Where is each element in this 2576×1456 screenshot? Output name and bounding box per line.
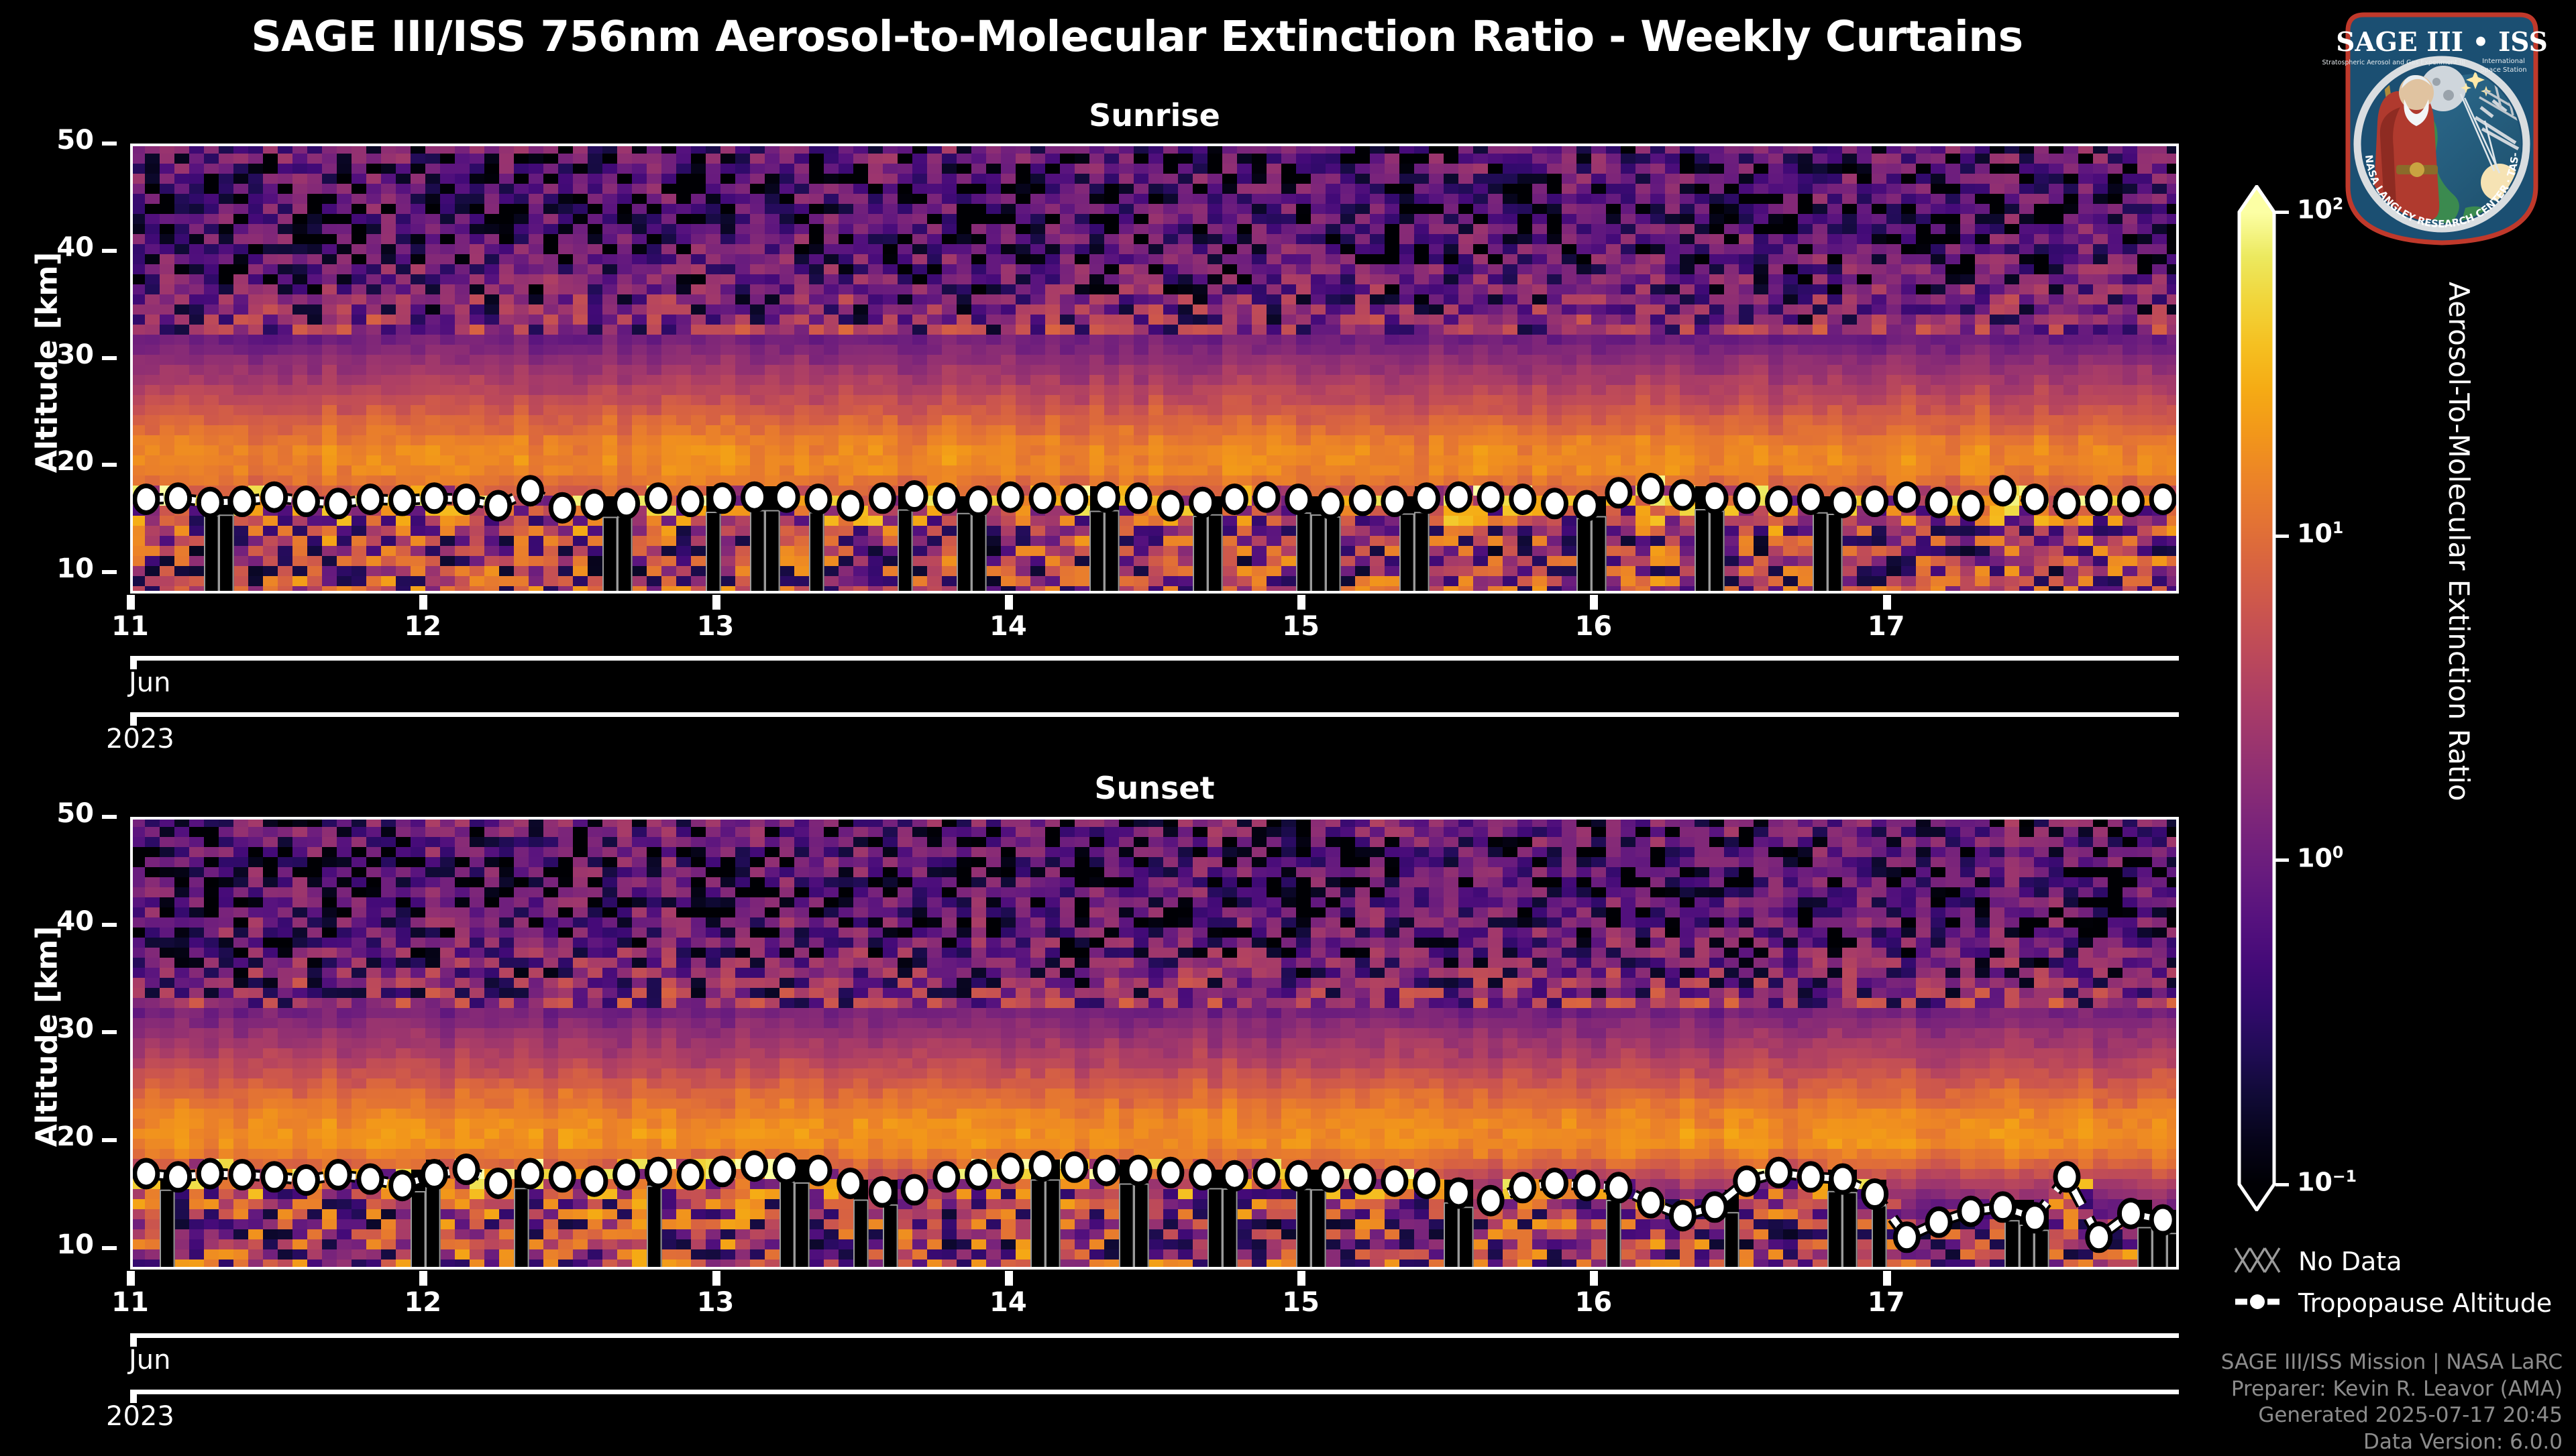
colorbar-ticks: 10210110010−1 bbox=[2234, 185, 2435, 1211]
y-tick-mark bbox=[102, 570, 117, 574]
colorbar-tick-mark bbox=[2275, 1183, 2289, 1186]
x-tick-label: 17 bbox=[1846, 611, 1927, 642]
colorbar-tick-label: 101 bbox=[2297, 518, 2343, 549]
x-tick-mark bbox=[419, 1271, 427, 1286]
y-axis-ticks-sunset: 5040302010 bbox=[13, 817, 114, 1270]
x-tick-mark bbox=[1005, 1271, 1013, 1286]
x-tick-label: 15 bbox=[1260, 1287, 1341, 1318]
legend: No Data Tropopause Altitude bbox=[2234, 1244, 2569, 1325]
footer-line: Preparer: Kevin R. Leavor (AMA) bbox=[1945, 1376, 2563, 1403]
footer-line: SAGE III/ISS Mission | NASA LaRC bbox=[1945, 1349, 2563, 1376]
x-tick-mark bbox=[1005, 595, 1013, 610]
year-label-sunrise: 2023 bbox=[106, 724, 174, 754]
y-tick-label: 50 bbox=[13, 798, 94, 829]
x-tick-mark bbox=[1590, 595, 1598, 610]
x-tick-label: 14 bbox=[968, 611, 1049, 642]
y-tick-mark bbox=[102, 356, 117, 360]
x-tick-mark bbox=[127, 595, 135, 610]
logo-title: SAGE III • ISS bbox=[2336, 27, 2548, 58]
tropopause-swatch bbox=[2234, 1287, 2281, 1317]
plot-area-sunset[interactable] bbox=[130, 817, 2179, 1270]
x-tick-label: 16 bbox=[1553, 1287, 1633, 1318]
logo-subtitle-right-2: Space Station bbox=[2480, 66, 2526, 74]
y-tick-mark bbox=[102, 1246, 117, 1250]
y-axis-ticks-sunrise: 5040302010 bbox=[13, 144, 114, 594]
x-tick-mark bbox=[712, 1271, 720, 1286]
x-tick-mark bbox=[127, 1271, 135, 1286]
month-label-sunrise: Jun bbox=[129, 667, 171, 698]
x-tick-label: 13 bbox=[676, 1287, 756, 1318]
colorbar-tick-label: 10−1 bbox=[2297, 1167, 2357, 1197]
x-tick-label: 17 bbox=[1846, 1287, 1927, 1318]
month-label-sunset: Jun bbox=[129, 1345, 171, 1376]
year-label-sunset: 2023 bbox=[106, 1401, 174, 1432]
x-tick-mark bbox=[1590, 1271, 1598, 1286]
year-rule-sunset bbox=[130, 1390, 2179, 1394]
y-tick-label: 20 bbox=[13, 1121, 94, 1152]
month-rule-sunset bbox=[130, 1333, 2179, 1338]
x-tick-mark bbox=[712, 595, 720, 610]
x-tick-label: 14 bbox=[968, 1287, 1049, 1318]
colorbar-tick-mark bbox=[2275, 858, 2289, 862]
colorbar-tick-mark bbox=[2275, 535, 2289, 538]
y-tick-mark bbox=[102, 815, 117, 819]
y-tick-label: 50 bbox=[13, 125, 94, 156]
legend-label-tropopause: Tropopause Altitude bbox=[2298, 1288, 2552, 1318]
no-data-swatch bbox=[2234, 1245, 2281, 1275]
x-tick-label: 11 bbox=[90, 1287, 170, 1318]
x-tick-label: 11 bbox=[90, 611, 170, 642]
y-tick-label: 40 bbox=[13, 232, 94, 263]
colorbar-tick-mark bbox=[2275, 211, 2289, 214]
logo-subtitle-left: Stratospheric Aerosol and Gas Experiment… bbox=[2322, 59, 2465, 66]
x-tick-label: 15 bbox=[1260, 611, 1341, 642]
x-tick-label: 16 bbox=[1553, 611, 1633, 642]
x-tick-mark bbox=[1297, 1271, 1305, 1286]
page-title: SAGE III/ISS 756nm Aerosol-to-Molecular … bbox=[0, 12, 2274, 61]
x-tick-label: 12 bbox=[382, 1287, 463, 1318]
y-tick-mark bbox=[102, 923, 117, 927]
y-tick-mark bbox=[102, 249, 117, 253]
y-tick-mark bbox=[102, 1030, 117, 1034]
y-tick-label: 10 bbox=[13, 553, 94, 584]
legend-label-no-data: No Data bbox=[2298, 1247, 2402, 1276]
x-tick-mark bbox=[419, 595, 427, 610]
y-tick-mark bbox=[102, 142, 117, 146]
y-tick-label: 30 bbox=[13, 1013, 94, 1044]
legend-item-no-data[interactable]: No Data bbox=[2234, 1244, 2569, 1279]
y-tick-mark bbox=[102, 1138, 117, 1142]
colorbar-tick-label: 102 bbox=[2297, 194, 2343, 225]
month-rule-sunrise bbox=[130, 656, 2179, 661]
y-tick-label: 10 bbox=[13, 1229, 94, 1260]
x-tick-mark bbox=[1297, 595, 1305, 610]
y-tick-label: 20 bbox=[13, 446, 94, 477]
x-tick-mark bbox=[1883, 595, 1891, 610]
footer-credits: SAGE III/ISS Mission | NASA LaRCPreparer… bbox=[1945, 1349, 2563, 1456]
logo-subtitle-right-1: International bbox=[2482, 58, 2525, 65]
panel-title-sunset: Sunset bbox=[130, 770, 2179, 806]
x-tick-mark bbox=[1883, 1271, 1891, 1286]
plot-area-sunrise[interactable] bbox=[130, 144, 2179, 594]
legend-item-tropopause[interactable]: Tropopause Altitude bbox=[2234, 1286, 2569, 1321]
colorbar-tick-label: 100 bbox=[2297, 843, 2343, 873]
colorbar-label: Aerosol-To-Molecular Extinction Ratio bbox=[2443, 282, 2475, 801]
x-tick-label: 12 bbox=[382, 611, 463, 642]
x-axis-ticks-sunset: 11121314151617 bbox=[130, 1276, 2179, 1317]
x-tick-label: 13 bbox=[676, 611, 756, 642]
year-rule-sunrise bbox=[130, 712, 2179, 717]
footer-line: Data Version: 6.0.0 bbox=[1945, 1429, 2563, 1456]
x-axis-ticks-sunrise: 11121314151617 bbox=[130, 600, 2179, 640]
y-tick-label: 30 bbox=[13, 339, 94, 370]
footer-line: Generated 2025-07-17 20:45 bbox=[1945, 1402, 2563, 1429]
panel-title-sunrise: Sunrise bbox=[130, 97, 2179, 133]
y-tick-mark bbox=[102, 463, 117, 467]
y-tick-label: 40 bbox=[13, 906, 94, 937]
